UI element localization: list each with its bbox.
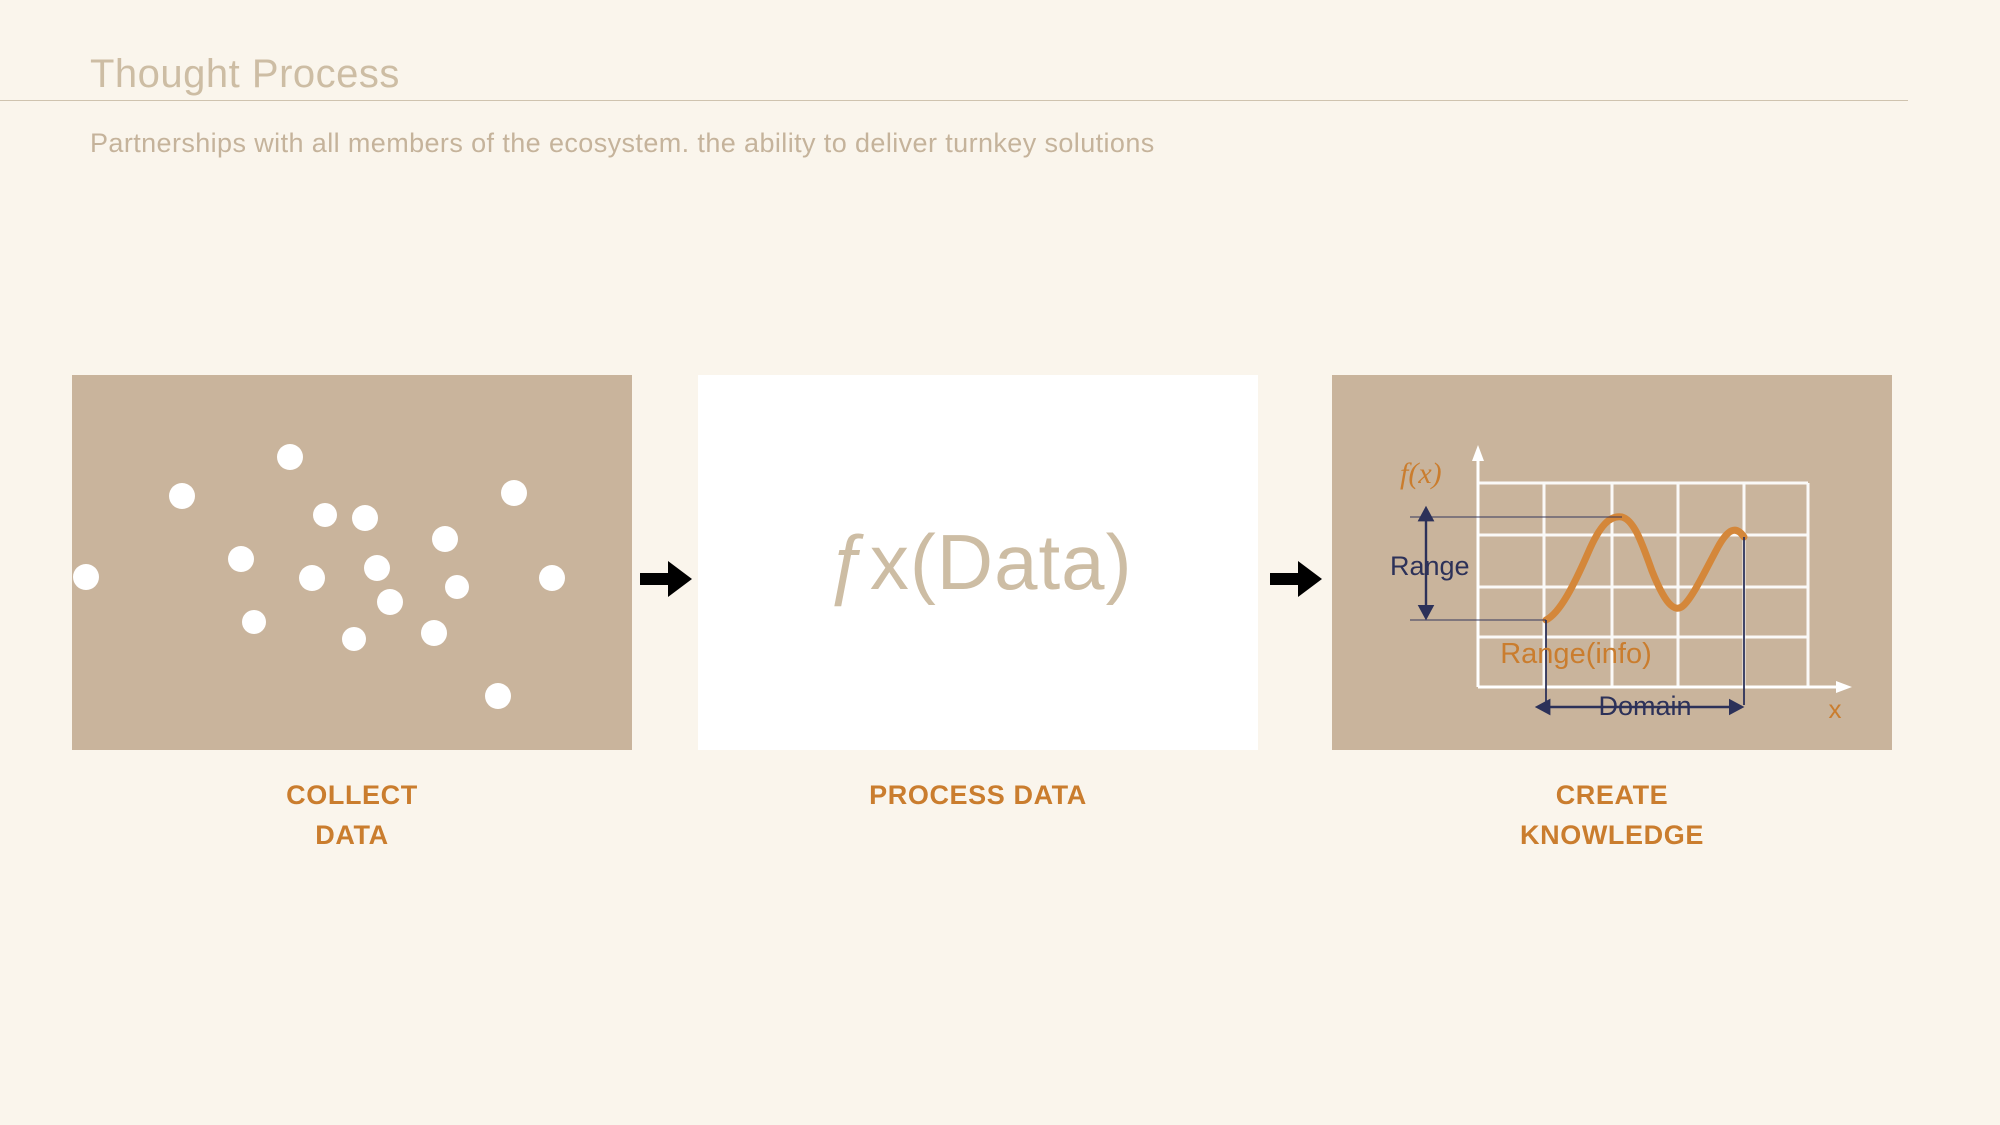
caption-create-knowledge: CREATE KNOWLEDGE — [1332, 775, 1892, 855]
scatter-dot — [169, 483, 195, 509]
x-axis-label: x — [1829, 694, 1842, 724]
caption-collect-line2: DATA — [72, 815, 632, 855]
range-info-label: Range(info) — [1500, 638, 1652, 670]
scatter-dot — [352, 505, 378, 531]
scatter-dot — [228, 546, 254, 572]
x-axis-arrowhead — [1836, 681, 1852, 693]
scatter-dot — [421, 620, 447, 646]
y-axis-label: f(x) — [1400, 457, 1442, 490]
scatter-dot — [313, 503, 337, 527]
scatter-dot — [485, 683, 511, 709]
scatter-dot — [377, 589, 403, 615]
function-graph-chart: f(x) Range Range(info) Domain x — [1332, 375, 1892, 750]
domain-guide-lines — [1546, 537, 1744, 705]
caption-collect-line1: COLLECT — [286, 780, 418, 810]
process-data-panel: ƒx(Data) — [698, 375, 1258, 750]
flow-arrow-2-icon — [1268, 555, 1324, 603]
function-curve — [1546, 517, 1744, 620]
formula-rest: x(Data) — [870, 517, 1133, 608]
scatter-dot — [364, 555, 390, 581]
scatter-dot — [501, 480, 527, 506]
scatter-dot — [277, 444, 303, 470]
process-flow-diagram: ƒx(Data) — [0, 0, 2000, 1125]
caption-create-line1: CREATE — [1556, 780, 1669, 810]
caption-process-data: PROCESS DATA — [698, 775, 1258, 815]
caption-collect-data: COLLECT DATA — [72, 775, 632, 855]
caption-process-line1: PROCESS DATA — [869, 780, 1087, 810]
scatter-dot — [342, 627, 366, 651]
domain-label: Domain — [1598, 691, 1691, 721]
range-label: Range — [1390, 551, 1470, 581]
collect-data-panel — [72, 375, 632, 750]
scatter-dot — [539, 565, 565, 591]
flow-arrow-1-icon — [638, 555, 694, 603]
fx-data-formula: ƒx(Data) — [698, 375, 1258, 750]
scatter-dot — [242, 610, 266, 634]
create-knowledge-panel: f(x) Range Range(info) Domain x — [1332, 375, 1892, 750]
y-axis-arrowhead — [1472, 445, 1484, 461]
scatter-dot — [299, 565, 325, 591]
scatter-dot — [432, 526, 458, 552]
caption-create-line2: KNOWLEDGE — [1332, 815, 1892, 855]
scatter-dot — [73, 564, 99, 590]
scatter-dot — [445, 575, 469, 599]
formula-f-symbol: ƒ — [823, 517, 869, 608]
